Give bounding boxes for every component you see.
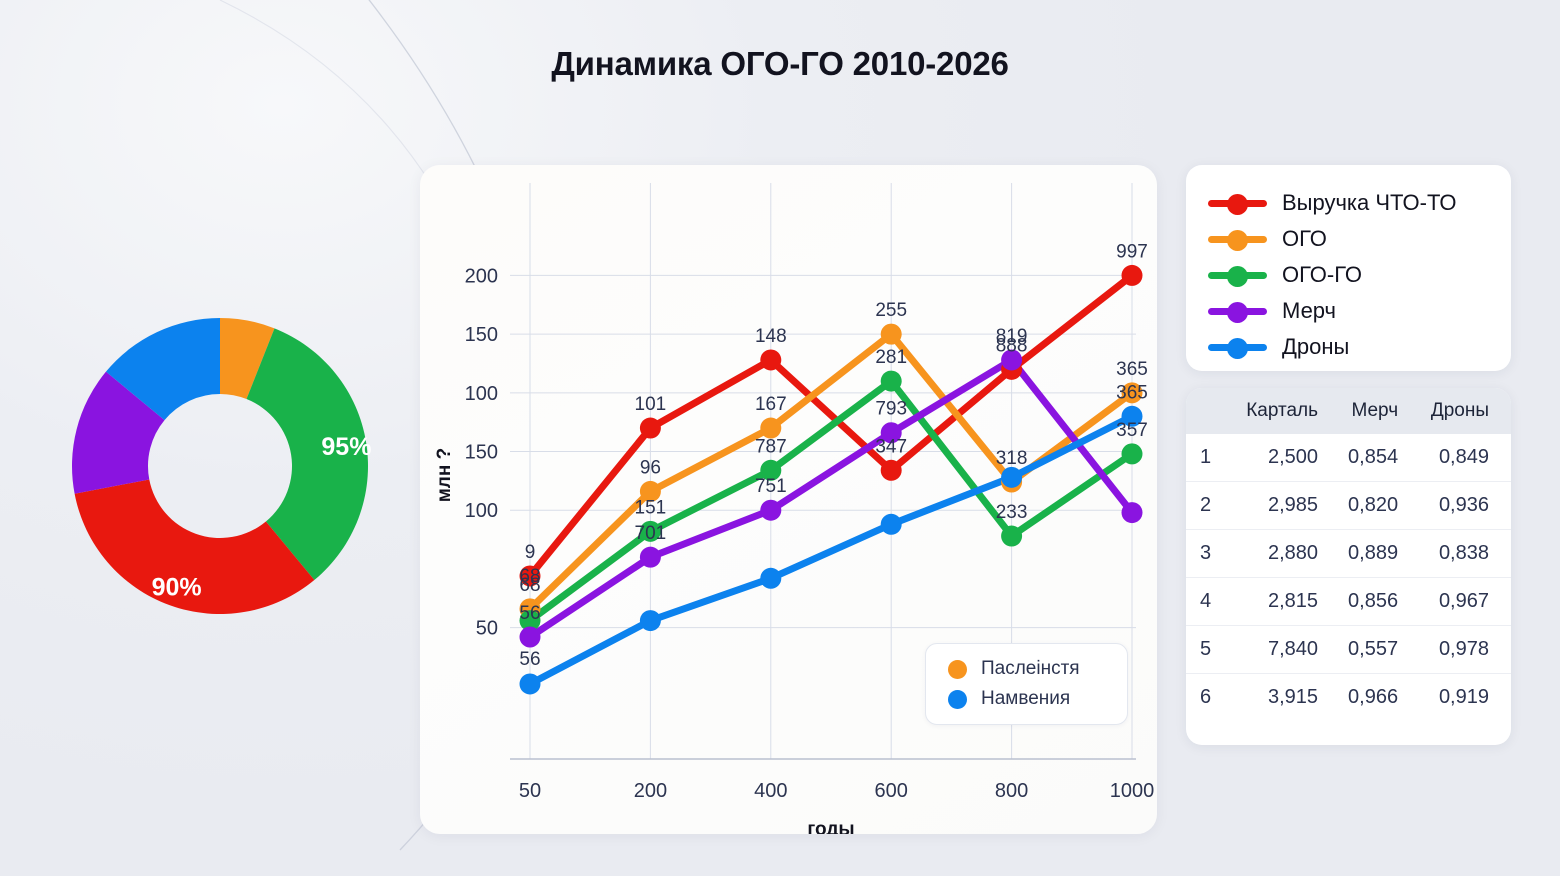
table-header-kartal: Карталь [1224, 388, 1332, 434]
y-axis-title: млн ? [434, 448, 455, 503]
data-point-label: 255 [875, 300, 907, 321]
y-tick-label: 100 [465, 500, 498, 522]
data-point-label: 167 [755, 394, 787, 415]
series-legend-card: Выручка ЧТО-ТО ОГО ОГО-ГО Мерч Дроны [1186, 165, 1511, 371]
donut-svg: 95%90% [60, 296, 380, 636]
legend-item-drony[interactable]: Дроны [1208, 329, 1511, 365]
data-point-label: 148 [755, 326, 787, 347]
data-table-card: Карталь Мерч Дроны 12,5000,8540,84922,98… [1186, 388, 1511, 745]
orange-dot-icon [948, 660, 967, 679]
x-tick-label: 50 [519, 780, 541, 802]
table-header-drony: Дроны [1410, 388, 1511, 434]
table-cell-kartal: 2,880 [1224, 530, 1332, 578]
data-point-label: 819 [996, 326, 1028, 347]
y-tick-label: 150 [465, 324, 498, 346]
legend-marker-icon [1208, 265, 1267, 285]
data-point[interactable] [640, 610, 661, 631]
table-cell-kartal: 2,985 [1224, 482, 1332, 530]
table-row[interactable]: 12,5000,8540,849 [1186, 434, 1511, 482]
data-point-label: 56 [519, 649, 540, 670]
data-point[interactable] [520, 627, 541, 648]
data-point-label: 151 [635, 497, 667, 518]
y-tick-label: 150 [465, 442, 498, 464]
x-tick-label: 200 [634, 780, 667, 802]
table-cell-index: 3 [1186, 530, 1224, 578]
table-row[interactable]: 22,9850,8200,936 [1186, 482, 1511, 530]
data-point-label: 365 [1116, 382, 1148, 403]
line-chart-svg: 2001501001501005050200400600800100091011… [420, 165, 1157, 834]
data-point-label: 787 [755, 436, 787, 457]
table-row[interactable]: 32,8800,8890,838 [1186, 530, 1511, 578]
legend-marker-icon [1208, 193, 1267, 213]
table-cell-index: 1 [1186, 434, 1224, 482]
legend-item-ogo[interactable]: ОГО [1208, 221, 1511, 257]
legend-label: Дроны [1282, 334, 1349, 360]
data-point[interactable] [1122, 265, 1143, 286]
table-header-row: Карталь Мерч Дроны [1186, 388, 1511, 434]
table-cell-merch: 0,557 [1332, 626, 1410, 674]
blue-dot-icon [948, 690, 967, 709]
data-point-label: 357 [1116, 420, 1148, 441]
table-cell-kartal: 2,500 [1224, 434, 1332, 482]
table-row[interactable]: 63,9150,9660,919 [1186, 674, 1511, 722]
legend-marker-icon [1208, 337, 1267, 357]
data-point[interactable] [881, 324, 902, 345]
legend-label: Мерч [1282, 298, 1336, 324]
data-point[interactable] [760, 500, 781, 521]
x-tick-label: 600 [875, 780, 908, 802]
table-cell-merch: 0,856 [1332, 578, 1410, 626]
data-point-label: 751 [755, 476, 787, 497]
legend-label: ОГО-ГО [1282, 262, 1362, 288]
donut-slice-label: 90% [152, 573, 202, 601]
legend-marker-icon [1208, 301, 1267, 321]
data-point-label: 997 [1116, 241, 1148, 262]
table-header: Карталь Мерч Дроны [1186, 388, 1511, 434]
table-header-merch: Мерч [1332, 388, 1410, 434]
data-table: Карталь Мерч Дроны 12,5000,8540,84922,98… [1186, 388, 1511, 721]
data-point-label: 793 [875, 399, 907, 420]
legend-marker-icon [1208, 229, 1267, 249]
data-point[interactable] [1001, 467, 1022, 488]
table-body: 12,5000,8540,84922,9850,8200,93632,8800,… [1186, 434, 1511, 721]
data-point[interactable] [1001, 526, 1022, 547]
data-point[interactable] [881, 460, 902, 481]
data-point-label: 101 [635, 394, 667, 415]
table-cell-merch: 0,820 [1332, 482, 1410, 530]
data-point-label: 281 [875, 347, 907, 368]
table-cell-drony: 0,967 [1410, 578, 1511, 626]
inner-legend-item[interactable]: Паслеінстя [948, 658, 1127, 680]
data-point[interactable] [520, 673, 541, 694]
donut-chart: 95%90% [60, 296, 380, 636]
x-tick-label: 1000 [1110, 780, 1155, 802]
inner-legend-label: Намвения [981, 688, 1070, 710]
table-cell-kartal: 2,815 [1224, 578, 1332, 626]
table-cell-index: 2 [1186, 482, 1224, 530]
data-point-label: 233 [996, 502, 1028, 523]
data-point[interactable] [1122, 502, 1143, 523]
data-point[interactable] [760, 568, 781, 589]
x-tick-label: 800 [995, 780, 1028, 802]
data-point-label: 96 [640, 457, 661, 478]
inner-chart-legend: Паслеінстя Намвения [925, 643, 1128, 725]
y-tick-label: 100 [465, 383, 498, 405]
table-cell-index: 4 [1186, 578, 1224, 626]
table-cell-merch: 0,966 [1332, 674, 1410, 722]
data-point-label: 56 [519, 603, 540, 624]
page-title: Динамика ОГО-ГО 2010-2026 [0, 45, 1560, 83]
data-point[interactable] [881, 514, 902, 535]
table-cell-merch: 0,854 [1332, 434, 1410, 482]
legend-item-merch[interactable]: Мерч [1208, 293, 1511, 329]
table-header-index [1186, 388, 1224, 434]
data-point-label: 68 [519, 566, 540, 587]
x-axis-title: годы [807, 819, 854, 834]
data-point-label: 701 [635, 523, 667, 544]
table-cell-drony: 0,919 [1410, 674, 1511, 722]
table-cell-drony: 0,838 [1410, 530, 1511, 578]
table-cell-drony: 0,849 [1410, 434, 1511, 482]
data-point-label: 347 [875, 436, 907, 457]
data-point-label: 9 [525, 542, 536, 563]
data-point[interactable] [1122, 443, 1143, 464]
table-cell-merch: 0,889 [1332, 530, 1410, 578]
inner-legend-item[interactable]: Намвения [948, 688, 1127, 710]
inner-legend-label: Паслеінстя [981, 658, 1080, 680]
x-tick-label: 400 [754, 780, 787, 802]
line-chart-card: 2001501001501005050200400600800100091011… [420, 165, 1157, 834]
legend-label: ОГО [1282, 226, 1327, 252]
table-cell-drony: 0,978 [1410, 626, 1511, 674]
table-row[interactable]: 57,8400,5570,978 [1186, 626, 1511, 674]
table-cell-index: 5 [1186, 626, 1224, 674]
series-line-Мерч[interactable] [530, 360, 1132, 637]
table-cell-kartal: 7,840 [1224, 626, 1332, 674]
data-point[interactable] [760, 349, 781, 370]
data-point[interactable] [640, 418, 661, 439]
table-cell-index: 6 [1186, 674, 1224, 722]
data-point[interactable] [640, 547, 661, 568]
table-cell-kartal: 3,915 [1224, 674, 1332, 722]
data-point-label: 318 [996, 448, 1028, 469]
donut-slice-label: 95% [321, 433, 371, 461]
data-point[interactable] [881, 371, 902, 392]
legend-item-vyruchka[interactable]: Выручка ЧТО-ТО [1208, 185, 1511, 221]
y-tick-label: 200 [465, 265, 498, 287]
legend-label: Выручка ЧТО-ТО [1282, 190, 1457, 216]
y-tick-label: 50 [476, 618, 498, 640]
table-cell-drony: 0,936 [1410, 482, 1511, 530]
data-point-label: 365 [1116, 359, 1148, 380]
legend-item-ogo-go[interactable]: ОГО-ГО [1208, 257, 1511, 293]
table-row[interactable]: 42,8150,8560,967 [1186, 578, 1511, 626]
